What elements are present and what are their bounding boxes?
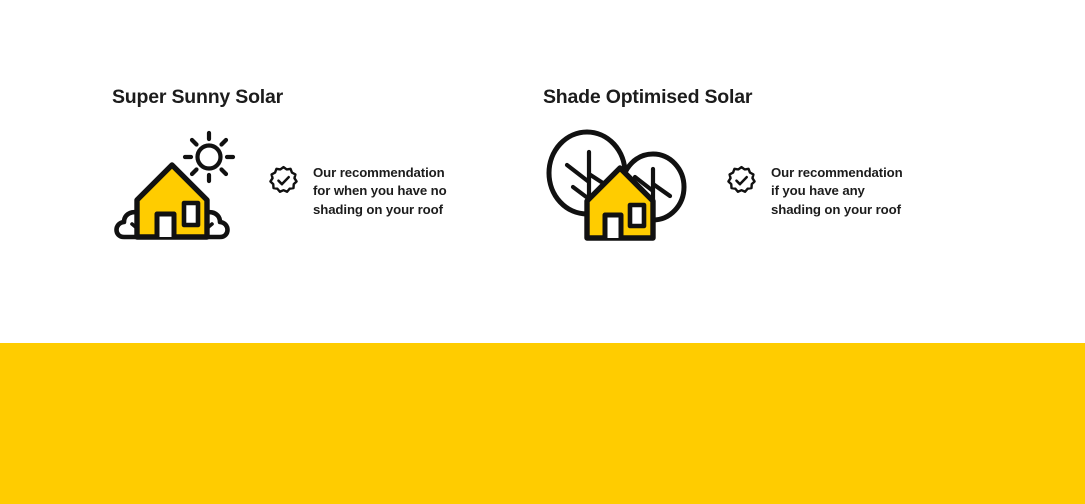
page-root: Super Sunny Solar [0,0,1085,504]
house-with-trees-icon [543,125,693,245]
column-title-super-sunny-solar: Super Sunny Solar [112,86,512,109]
product-column-super-sunny-solar: Super Sunny Solar [112,86,512,245]
check-badge-icon [726,165,757,196]
product-column-shade-optimised-solar: Shade Optimised Solar [543,86,973,245]
house-with-sun-and-bushes-icon [112,125,242,245]
recommendation-text-shade-optimised: Our recommendation if you have any shadi… [771,164,903,219]
check-badge-icon [268,165,299,196]
recommendation-block-shade-optimised: Our recommendation if you have any shadi… [726,164,903,219]
yellow-banner [0,343,1085,504]
column-body: Our recommendation for when you have no … [112,125,512,245]
recommendation-text-super-sunny: Our recommendation for when you have no … [313,164,447,219]
column-title-shade-optimised-solar: Shade Optimised Solar [543,86,973,109]
column-body: Our recommendation if you have any shadi… [543,125,973,245]
recommendation-block-super-sunny: Our recommendation for when you have no … [268,164,447,219]
